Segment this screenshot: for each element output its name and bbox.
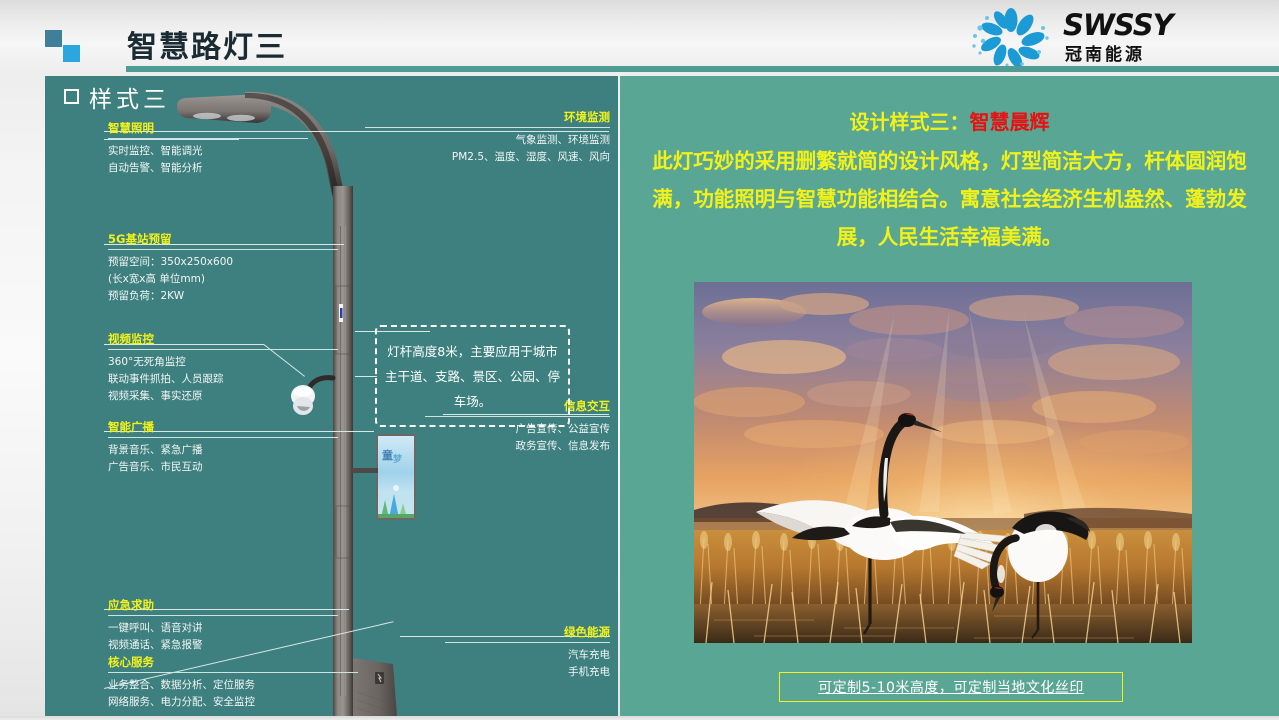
caption-text: 可定制5-10米高度，可定制当地文化丝印 <box>818 677 1084 697</box>
logo-square-light-icon <box>63 45 80 62</box>
callout-core-service: 核心服务 业务整合、数据分析、定位服务 网络服务、电力分配、安全监控 <box>108 654 358 711</box>
callout-item: 预留空间：350x250x600 <box>108 254 338 271</box>
brand-logo: SWSSY 冠南能源 <box>967 6 1217 68</box>
callout-title: 核心服务 <box>108 654 358 672</box>
callout-rule <box>108 672 358 673</box>
callout-item: 手机充电 <box>445 664 610 681</box>
callout-title: 视频监控 <box>108 331 338 349</box>
logo-square-dark-icon <box>45 30 62 47</box>
note-text: 灯杆高度8米，主要应用于城市主干道、支路、景区、公园、停车场。 <box>377 339 568 414</box>
callout-rule <box>365 127 610 128</box>
svg-text:梦: 梦 <box>393 453 403 465</box>
callout-item: (长x宽x高 单位mm) <box>108 271 338 288</box>
note-box: 灯杆高度8米，主要应用于城市主干道、支路、景区、公园、停车场。 <box>375 325 570 427</box>
callout-rule <box>108 138 308 139</box>
callout-item: 联动事件抓拍、人员跟踪 <box>108 371 338 388</box>
page-title: 智慧路灯三 <box>127 22 287 66</box>
callout-rule <box>445 642 610 643</box>
callout-item: 汽车充电 <box>445 647 610 664</box>
callout-title: 智慧照明 <box>108 120 308 138</box>
crane-sunset-photo <box>694 282 1192 643</box>
callout-emergency-help: 应急求助 一键呼叫、语音对讲 视频通话、紧急报警 <box>108 597 338 654</box>
callout-item: 视频采集、事实还原 <box>108 388 338 405</box>
callout-smart-broadcast: 智能广播 背景音乐、紧急广播 广告音乐、市民互动 <box>108 419 338 476</box>
brand-flower-icon <box>967 8 1055 66</box>
callout-item: PM2.5、温度、湿度、风速、风向 <box>365 149 610 166</box>
brand-name: SWSSY <box>1063 8 1173 42</box>
callout-5g-base-station: 5G基站预留 预留空间：350x250x600 (长x宽x高 单位mm) 预留负… <box>108 231 338 305</box>
design-description: 此灯巧妙的采用删繁就简的设计风格，灯型简洁大方，杆体圆润饱满，功能照明与智慧功能… <box>646 142 1253 256</box>
callout-title: 绿色能源 <box>445 624 610 642</box>
caption-box: 可定制5-10米高度，可定制当地文化丝印 <box>779 672 1123 702</box>
callout-item: 视频通话、紧急报警 <box>108 637 338 654</box>
callout-rule <box>108 349 338 350</box>
callout-environment-monitoring: 环境监测 气象监测、环境监测 PM2.5、温度、湿度、风速、风向 <box>365 109 610 166</box>
design-heading-label: 设计样式三： <box>850 110 970 134</box>
callout-title: 应急求助 <box>108 597 338 615</box>
callout-item: 政务宣传、信息发布 <box>425 438 610 455</box>
right-description-panel: 设计样式三：智慧晨辉 此灯巧妙的采用删繁就简的设计风格，灯型简洁大方，杆体圆润饱… <box>620 76 1279 716</box>
callout-item: 网络服务、电力分配、安全监控 <box>108 694 358 711</box>
callout-title: 5G基站预留 <box>108 231 338 249</box>
callout-item: 背景音乐、紧急广播 <box>108 442 338 459</box>
callout-green-energy: 绿色能源 汽车充电 手机充电 <box>445 624 610 681</box>
callout-item: 一键呼叫、语音对讲 <box>108 620 338 637</box>
brand-subtitle: 冠南能源 <box>1065 40 1145 65</box>
leader-line-note-b <box>355 376 377 377</box>
callout-item: 预留负荷：2KW <box>108 288 338 305</box>
callout-video-surveillance: 视频监控 360°无死角监控 联动事件抓拍、人员跟踪 视频采集、事实还原 <box>108 331 338 405</box>
callout-smart-lighting: 智慧照明 实时监控、智能调光 自动告警、智能分析 <box>108 120 308 177</box>
svg-text:童: 童 <box>382 448 393 462</box>
callout-item: 实时监控、智能调光 <box>108 143 308 160</box>
callout-item: 气象监测、环境监测 <box>365 132 610 149</box>
callout-item: 广告音乐、市民互动 <box>108 459 338 476</box>
crane-sunset-artwork <box>694 282 1192 643</box>
callout-item: 业务整合、数据分析、定位服务 <box>108 677 358 694</box>
callout-item: 自动告警、智能分析 <box>108 160 308 177</box>
callout-title: 环境监测 <box>365 109 610 127</box>
design-heading: 设计样式三：智慧晨辉 <box>620 106 1279 135</box>
logo-squares-icon <box>45 30 85 62</box>
design-heading-name: 智慧晨辉 <box>970 110 1050 134</box>
callout-rule <box>108 249 338 250</box>
left-diagram-panel: 样式三 <box>45 76 618 716</box>
callout-rule <box>108 615 338 616</box>
callout-item: 360°无死角监控 <box>108 354 338 371</box>
callout-rule <box>108 437 338 438</box>
callout-title: 智能广播 <box>108 419 338 437</box>
footer-strip <box>0 716 1279 720</box>
page-header: 智慧路灯三 SWSSY <box>0 0 1279 72</box>
